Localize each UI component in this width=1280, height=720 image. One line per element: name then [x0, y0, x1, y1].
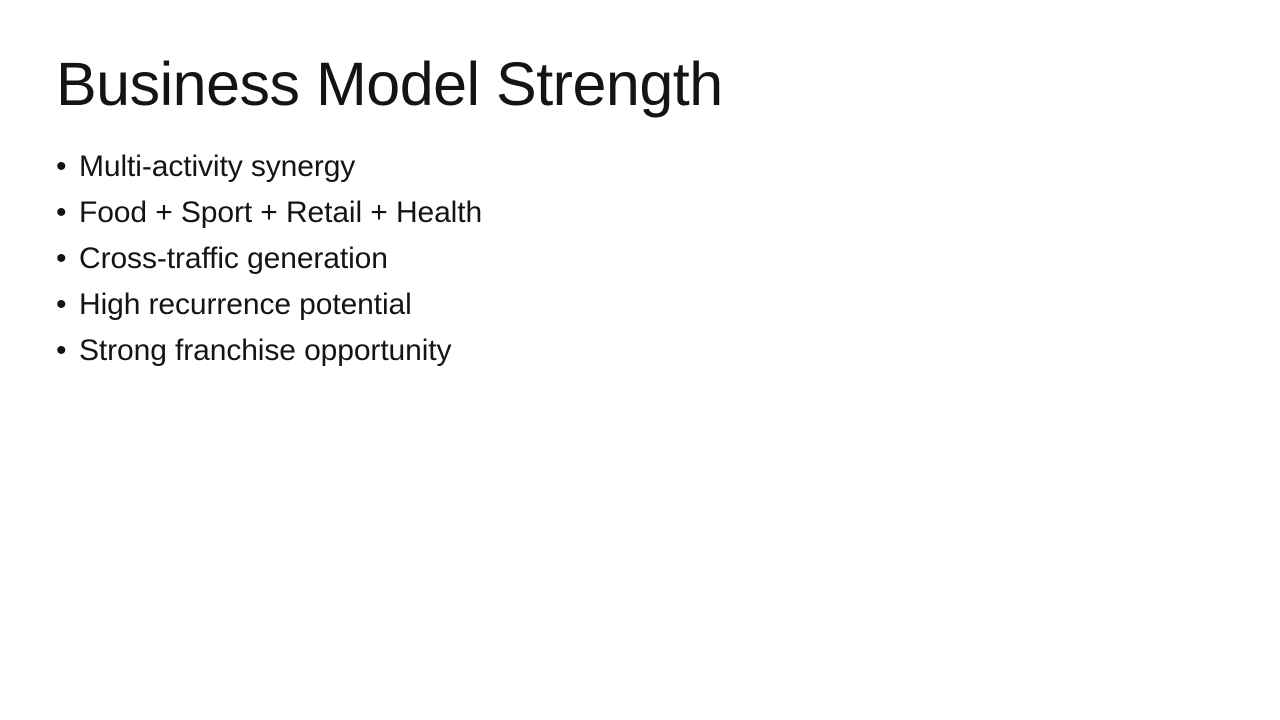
bullet-point-icon: •	[56, 144, 79, 190]
list-item: • High recurrence potential	[56, 282, 1156, 328]
bullet-point-icon: •	[56, 282, 79, 328]
list-item-label: Cross-traffic generation	[79, 236, 388, 282]
list-item-label: Food + Sport + Retail + Health	[79, 190, 482, 236]
presentation-slide: Business Model Strength • Multi-activity…	[0, 0, 1280, 720]
list-item-label: Multi-activity synergy	[79, 144, 355, 190]
bullet-list: • Multi-activity synergy • Food + Sport …	[56, 144, 1156, 374]
list-item: • Strong franchise opportunity	[56, 328, 1156, 374]
bullet-point-icon: •	[56, 190, 79, 236]
bullet-point-icon: •	[56, 328, 79, 374]
page-title: Business Model Strength	[56, 52, 723, 118]
bullet-point-icon: •	[56, 236, 79, 282]
list-item: • Cross-traffic generation	[56, 236, 1156, 282]
list-item-label: High recurrence potential	[79, 282, 412, 328]
list-item: • Multi-activity synergy	[56, 144, 1156, 190]
list-item: • Food + Sport + Retail + Health	[56, 190, 1156, 236]
list-item-label: Strong franchise opportunity	[79, 328, 451, 374]
